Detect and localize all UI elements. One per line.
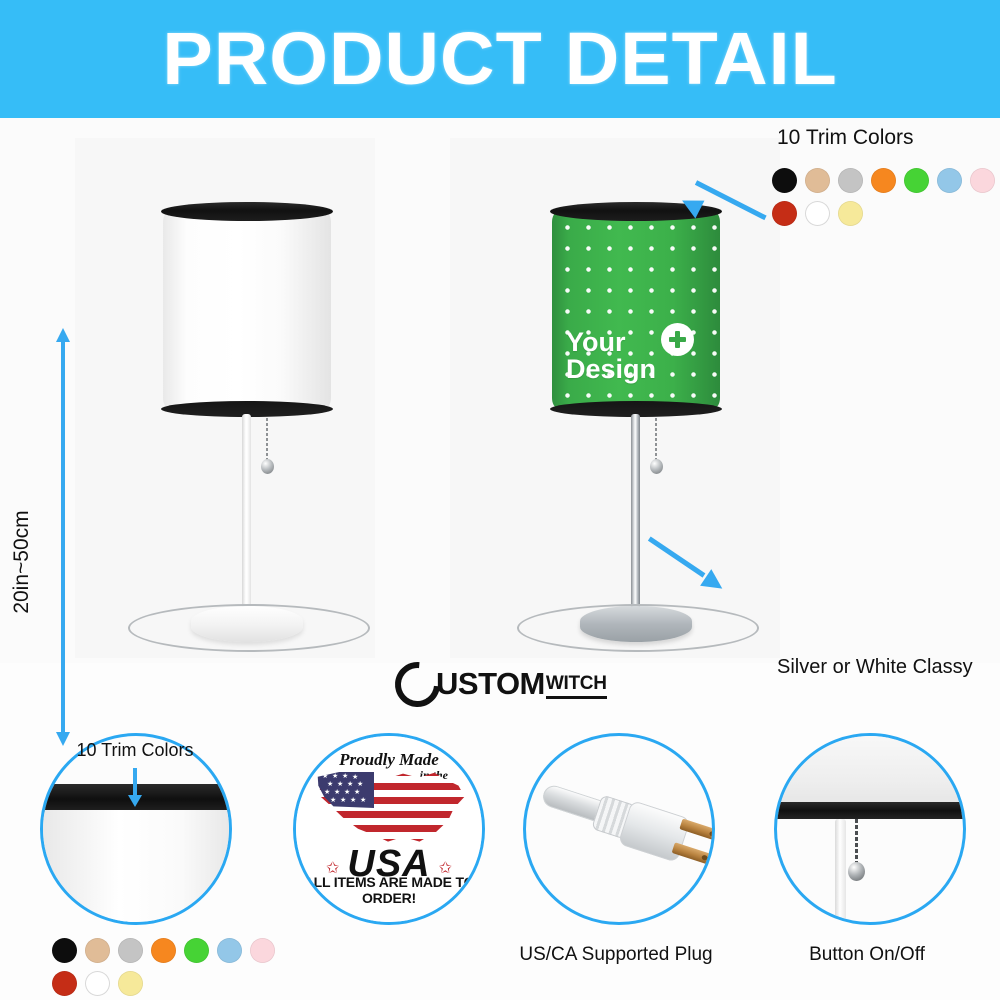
height-dimension-arrow (56, 328, 70, 746)
feature-trim-colors (40, 733, 232, 925)
usa-badge-bottom-text: ALL ITEMS ARE MADE TO ORDER! (296, 874, 482, 906)
feature-switch-caption: Button On/Off (752, 944, 982, 966)
trim-swatch-yellow[interactable] (838, 201, 863, 226)
trim-ring-top (161, 202, 333, 221)
plug-graphic (524, 754, 715, 906)
switch-chain[interactable] (855, 819, 858, 865)
trim-swatch-pink[interactable] (970, 168, 995, 193)
base-finish-callout-label: Silver or White Classy (777, 656, 973, 679)
pull-chain-ball[interactable] (261, 459, 274, 474)
plug-prong-bottom (672, 842, 715, 866)
lampshade-custom: Your Design (552, 202, 720, 417)
power-cord (517, 604, 759, 652)
trim-swatch-light-blue[interactable] (937, 168, 962, 193)
height-dimension-label: 20in~50cm (10, 482, 34, 642)
trim-swatch-yellow[interactable] (118, 971, 143, 996)
feature-made-in-usa: Proudly Made in the ★★ ★★ ★★ ★★ ★★ ★★ ★★… (293, 733, 485, 925)
trim-swatch-white[interactable] (85, 971, 110, 996)
trim-colors-callout-label: 10 Trim Colors (777, 126, 914, 150)
brand-name-sub: WITCH (546, 673, 607, 699)
usa-flag-union: ★★ ★★ ★★ ★★ ★★ ★★ ★★ ★★ (316, 768, 374, 808)
trim-closeup-arrow-head (128, 795, 142, 807)
switch-shade-closeup (774, 733, 966, 804)
usa-badge-top-text: Proudly Made (296, 750, 482, 770)
trim-swatch-tan[interactable] (805, 168, 830, 193)
trim-swatch-green[interactable] (184, 938, 209, 963)
brand-name-main: USTOM (436, 666, 545, 702)
lamp-pole (631, 414, 640, 626)
trim-swatch-gray[interactable] (838, 168, 863, 193)
trim-swatch-red[interactable] (772, 201, 797, 226)
trim-swatch-white[interactable] (805, 201, 830, 226)
trim-swatch-black[interactable] (52, 938, 77, 963)
plus-icon (661, 323, 694, 356)
switch-chain-ball[interactable] (848, 862, 865, 881)
trim-swatch-light-blue[interactable] (217, 938, 242, 963)
brand-logo: USTOM WITCH (395, 664, 607, 704)
trim-swatch-green[interactable] (904, 168, 929, 193)
lampshade-closeup (40, 810, 232, 925)
trim-color-swatches-top[interactable] (772, 168, 1000, 226)
feature-switch (774, 733, 966, 925)
power-cord (128, 604, 370, 652)
trim-swatch-red[interactable] (52, 971, 77, 996)
product-detail-page: PRODUCT DETAIL 7in~18cm 20in~50cm (0, 0, 1000, 1000)
trim-swatch-orange[interactable] (151, 938, 176, 963)
lamp-pole (242, 414, 251, 626)
page-title: PRODUCT DETAIL (162, 22, 837, 96)
lampshade-white (163, 202, 331, 417)
plug-prong-top (679, 818, 715, 842)
switch-pole-closeup (835, 819, 846, 925)
trim-swatch-orange[interactable] (871, 168, 896, 193)
feature-plug-caption: US/CA Supported Plug (501, 944, 731, 966)
trim-closeup-arrow-line (133, 768, 137, 798)
design-line-2: Design (566, 356, 712, 382)
pull-chain-ball[interactable] (650, 459, 663, 474)
switch-trim-closeup (774, 802, 966, 819)
trim-swatch-gray[interactable] (118, 938, 143, 963)
trim-swatch-tan[interactable] (85, 938, 110, 963)
pull-chain[interactable] (266, 418, 268, 461)
main-stage: 7in~18cm 20in~50cm (0, 118, 1000, 663)
pull-chain[interactable] (655, 418, 657, 461)
trim-color-swatches-bottom[interactable] (52, 938, 288, 996)
header-banner: PRODUCT DETAIL (0, 0, 1000, 118)
trim-swatch-pink[interactable] (250, 938, 275, 963)
feature-trim-colors-caption: 10 Trim Colors (20, 740, 250, 761)
feature-plug (523, 733, 715, 925)
trim-swatch-black[interactable] (772, 168, 797, 193)
